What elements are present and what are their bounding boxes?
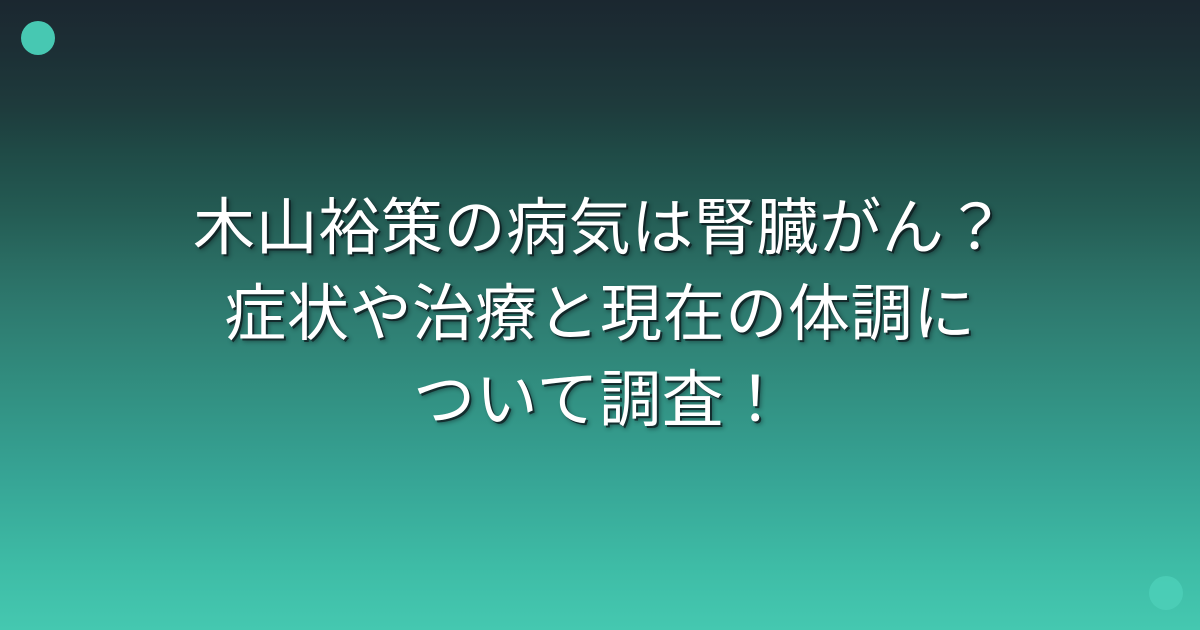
- title-line-1: 木山裕策の病気は腎臓がん？: [193, 186, 1007, 272]
- title-line-3: ついて調査！: [413, 358, 787, 444]
- title-block: 木山裕策の病気は腎臓がん？ 症状や治療と現在の体調に ついて調査！: [0, 0, 1200, 630]
- bottom-right-dot-icon: [1149, 576, 1183, 610]
- title-line-2: 症状や治療と現在の体調に: [224, 272, 975, 358]
- ogp-card: 木山裕策の病気は腎臓がん？ 症状や治療と現在の体調に ついて調査！: [0, 0, 1200, 630]
